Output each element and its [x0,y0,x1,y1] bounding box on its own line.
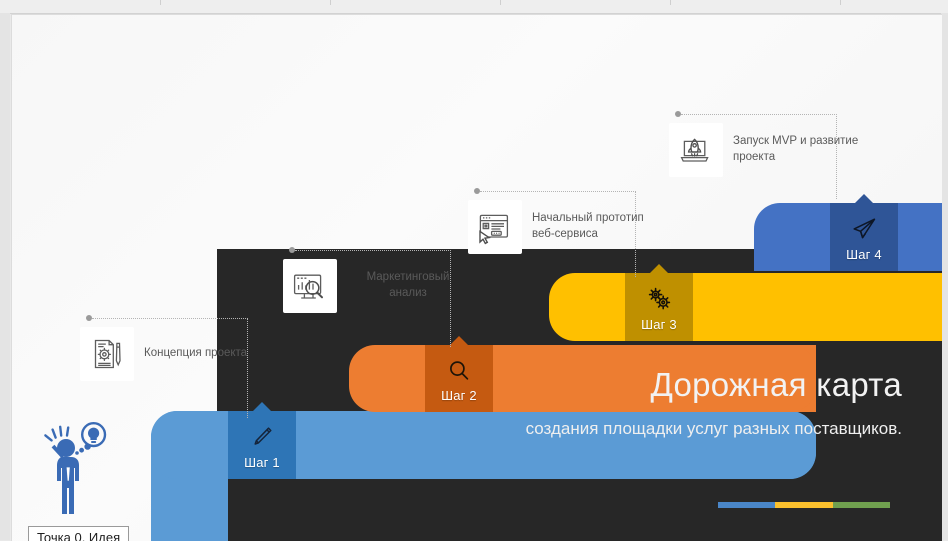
ruler-tick [670,0,671,5]
laptop-rocket-icon [669,123,723,177]
callout-3-leader-horizontal [480,191,636,192]
title-block: Дорожная карта создания площадки услуг р… [482,367,902,442]
step-2-notch [450,336,468,345]
accent-segment-green [833,502,890,508]
pencil-icon [228,420,296,454]
monitor-chart-magnifier-icon [283,259,337,313]
accent-color-bar [718,502,890,508]
step-3-bar-right-cap [886,273,942,341]
step-4-label: Шаг 4 [830,247,898,262]
slide-canvas[interactable]: Шаг 1 Шаг 2 [11,14,942,541]
step-3-tab[interactable]: Шаг 3 [625,273,693,341]
accent-segment-yellow [775,502,832,508]
step-4-notch [855,194,873,203]
ruler-tick [330,0,331,5]
wireframe-cursor-icon [468,200,522,254]
step-3-label: Шаг 3 [625,317,693,332]
point-zero-label: Точка 0. Идея [28,526,129,541]
point-zero-group[interactable]: Точка 0. Идея [28,420,148,541]
canvas-gutter-left [0,13,10,540]
gears-icon [625,282,693,316]
callout-1-text: Концепция проекта [144,346,247,362]
callout-2-leader-horizontal [295,250,451,251]
step-4-tab[interactable]: Шаг 4 [830,203,898,271]
callout-4-text: Запуск MVP и развитие проекта [733,134,858,165]
callout-3-text: Начальный прототип веб-сервиса [532,211,644,242]
page-title: Дорожная карта [482,367,902,403]
callout-4-leader-horizontal [681,114,837,115]
step-3-notch [650,264,668,273]
step-4-bar[interactable]: Шаг 4 [754,203,942,271]
document-gear-pen-icon [80,327,134,381]
paper-plane-icon [830,212,898,246]
ruler-tick [840,0,841,5]
step-1-tab[interactable]: Шаг 1 [228,411,296,479]
page-subtitle: создания площадки услуг разных поставщик… [482,417,902,442]
step-1-label: Шаг 1 [228,455,296,470]
callout-1-leader-horizontal [92,318,248,319]
ruler-strip [0,0,948,14]
person-with-idea-lightbulb-icon [36,420,122,525]
callout-2-text: Маркетинговый анализ [347,270,469,301]
presentation-editor-window: Шаг 1 Шаг 2 [0,0,948,540]
step-3-bar[interactable]: Шаг 3 [549,273,942,341]
ruler-tick [160,0,161,5]
accent-segment-blue [718,502,775,508]
ruler-tick [500,0,501,5]
canvas-gutter-right [941,13,948,540]
step-3-bar-fill [549,273,942,341]
step-1-notch [253,402,271,411]
